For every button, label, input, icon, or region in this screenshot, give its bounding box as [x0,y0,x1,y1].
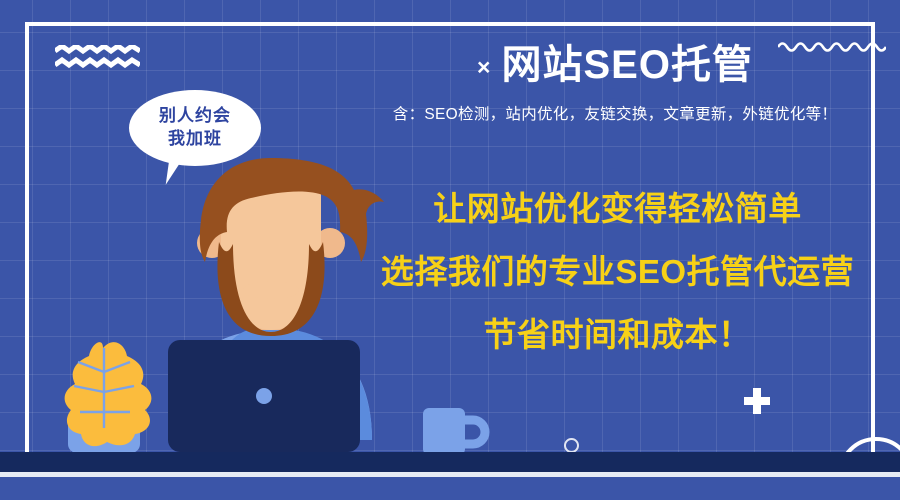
speech-bubble: 别人约会 我加班 [129,90,261,166]
desk-under-area [0,477,900,500]
slogan-line-3: 节省时间和成本！ [340,318,895,351]
slogan-line-1: 让网站优化变得轻松简单 [340,192,895,225]
page-title-text: 网站SEO托管 [501,43,752,87]
cross-mark-icon: × [477,54,491,80]
page-subtitle: 含：SEO检测，站内优化，友链交换，文章更新，外链优化等！ [345,102,885,124]
desk-surface [0,452,900,472]
slogan-list: 让网站优化变得轻松简单 选择我们的专业SEO托管代运营 节省时间和成本！ [340,192,895,351]
headline-block: ×网站SEO托管 含：SEO检测，站内优化，友链交换，文章更新，外链优化等！ [345,44,885,124]
slogan-line-2: 选择我们的专业SEO托管代运营 [340,255,895,288]
page-title: ×网站SEO托管 [345,44,885,86]
speech-bubble-line-1: 别人约会 [159,105,231,128]
speech-bubble-line-2: 我加班 [168,128,222,151]
seo-hosting-banner: 别人约会 我加班 ×网站SEO托管 含：SEO检测，站内优化，友链交换，文章更新… [0,0,900,500]
